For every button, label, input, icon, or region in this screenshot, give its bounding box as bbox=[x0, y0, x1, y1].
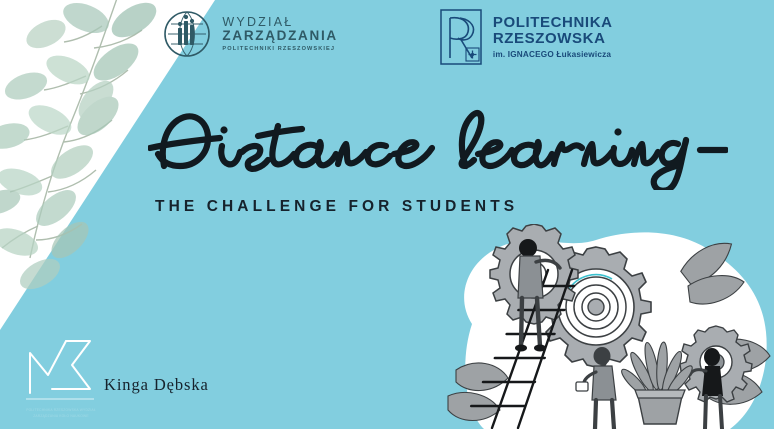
globe-grid-emblem-icon bbox=[161, 8, 213, 60]
logo-wz-line1: WYDZIAŁ bbox=[222, 16, 337, 30]
page-subtitle: THE CHALLENGE FOR STUDENTS bbox=[155, 198, 518, 216]
logo-wydzial-zarzadzania: WYDZIAŁ ZARZĄDZANIA POLITECHNIKI RZESZOW… bbox=[161, 8, 337, 60]
logo-pr-line3: im. IGNACEGO Łukasiewicza bbox=[493, 50, 613, 59]
author-name: Kinga Dębska bbox=[104, 375, 209, 395]
person-standing-icon bbox=[576, 347, 616, 429]
people-with-gears-illustration bbox=[444, 224, 774, 429]
logo-wz-line2: ZARZĄDZANIA bbox=[222, 29, 337, 44]
logo-pr-line2: RZESZOWSKA bbox=[493, 31, 613, 48]
m-sigma-monogram-icon bbox=[24, 335, 96, 411]
logo-pr-line1: POLITECHNIKA bbox=[493, 15, 613, 32]
person-on-ladder-icon bbox=[515, 239, 560, 352]
logo-wydzial-text: WYDZIAŁ ZARZĄDZANIA POLITECHNIKI RZESZOW… bbox=[222, 16, 337, 52]
pr-monogram-icon bbox=[438, 8, 484, 66]
logo-pr-text: POLITECHNIKA RZESZOWSKA im. IGNACEGO Łuk… bbox=[493, 15, 613, 59]
footer-logo-caption: POLITECHNIKA RZESZOWSKA WYDZIAŁ ZARZĄDZA… bbox=[24, 408, 98, 419]
potted-plant-icon bbox=[619, 341, 696, 424]
presentation-slide: WYDZIAŁ ZARZĄDZANIA POLITECHNIKI RZESZOW… bbox=[0, 0, 774, 429]
person-at-gear-icon bbox=[690, 348, 723, 429]
logo-wz-line3: POLITECHNIKI RZESZOWSKIEJ bbox=[222, 46, 337, 52]
header-logos: WYDZIAŁ ZARZĄDZANIA POLITECHNIKI RZESZOW… bbox=[0, 8, 774, 78]
logo-politechnika-rzeszowska: POLITECHNIKA RZESZOWSKA im. IGNACEGO Łuk… bbox=[438, 8, 613, 66]
page-title-script bbox=[148, 104, 728, 190]
